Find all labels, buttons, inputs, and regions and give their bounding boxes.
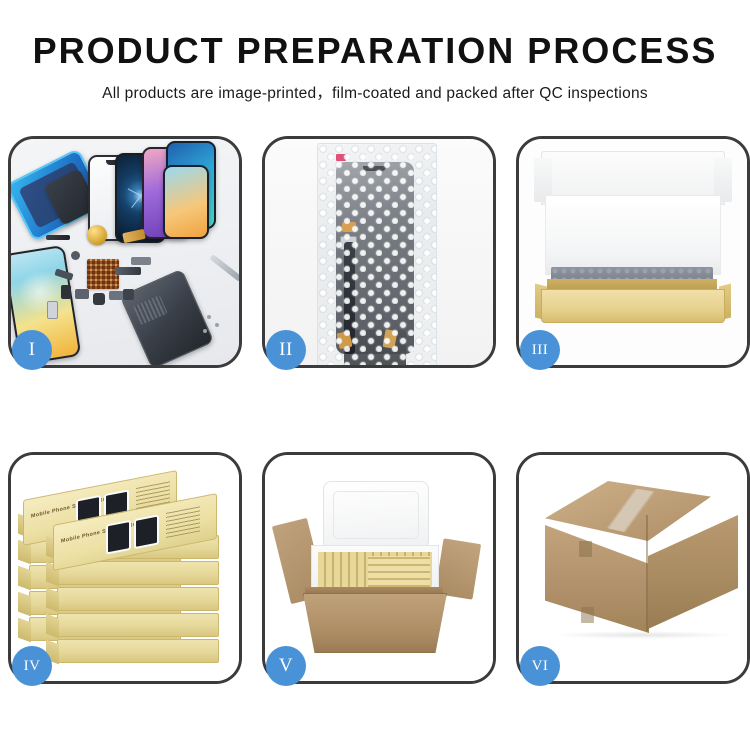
bubble-wrap-bag (317, 143, 437, 365)
box-side (18, 618, 31, 643)
screw-icon (207, 315, 211, 319)
box-side (46, 614, 59, 639)
carton-vertical-edge (646, 515, 648, 631)
screw-icon (203, 329, 207, 333)
box-stack: Mobile Phone Spare Parts Mobile Phone Sp… (11, 455, 239, 681)
box-print-thumbnail (134, 514, 159, 549)
stacked-boxes-image: Mobile Phone Spare Parts Mobile Phone Sp… (11, 455, 239, 681)
screw-icon (215, 323, 219, 327)
orange-phone-icon (163, 165, 209, 239)
small-part-icon (131, 257, 151, 265)
process-step-grid: I (8, 136, 742, 684)
process-step-6: VI (516, 452, 750, 684)
carton-seam-mark (581, 607, 594, 623)
foam-sheet (545, 195, 721, 275)
phone-parts-assortment-image (11, 139, 239, 365)
process-step-3: III (516, 136, 750, 368)
page-subtitle: All products are image-printed，film-coat… (0, 81, 750, 103)
bubble-texture (318, 144, 436, 365)
process-step-4: Mobile Phone Spare Parts Mobile Phone Sp… (8, 452, 242, 684)
bubble-wrapped-screen-image (265, 139, 493, 365)
small-part-icon (123, 289, 134, 300)
step-badge-4: IV (12, 646, 52, 686)
page-title: PRODUCT PREPARATION PROCESS (0, 32, 750, 70)
sealed-carton-image (519, 455, 747, 681)
small-part-icon (61, 285, 71, 299)
chip-grid-icon (87, 259, 119, 289)
process-step-5: V (262, 452, 496, 684)
speaker-coil-icon (87, 225, 107, 245)
stacked-box (57, 613, 219, 637)
page-header: PRODUCT PREPARATION PROCESS All products… (0, 0, 750, 103)
sim-tray-icon (47, 301, 58, 319)
box-print-spec-lines (166, 505, 200, 538)
stacked-box (57, 639, 219, 663)
step-badge-5: V (266, 646, 306, 686)
open-inner-box-image (519, 139, 747, 365)
small-part-icon (71, 251, 80, 260)
step-badge-1: I (12, 330, 52, 370)
connector-cable-icon (115, 267, 141, 275)
stacked-box (57, 587, 219, 611)
box-side (18, 566, 31, 591)
step-badge-2: II (266, 330, 306, 370)
phone-backplate-icon (120, 269, 215, 365)
process-step-2: II (262, 136, 496, 368)
small-part-icon (93, 293, 105, 305)
open-carton-image (265, 455, 493, 681)
carton-seam-mark (579, 541, 592, 557)
tweezers-icon (209, 254, 239, 282)
box-side (18, 592, 31, 617)
carton-shadow (549, 631, 735, 639)
carton-right-face (648, 515, 738, 629)
box-front-panel (541, 289, 725, 323)
small-part-icon (75, 289, 89, 299)
box-print-thumbnail (106, 520, 131, 555)
foam-lid (323, 481, 429, 549)
process-step-1: I (8, 136, 242, 368)
carton-left-face (545, 525, 649, 633)
step-badge-6: VI (520, 646, 560, 686)
box-side (46, 588, 59, 613)
product-preparation-page: PRODUCT PREPARATION PROCESS All products… (0, 0, 750, 750)
earpiece-strip-icon (46, 235, 70, 240)
step-badge-3: III (520, 330, 560, 370)
carton-front-panel (303, 593, 447, 653)
